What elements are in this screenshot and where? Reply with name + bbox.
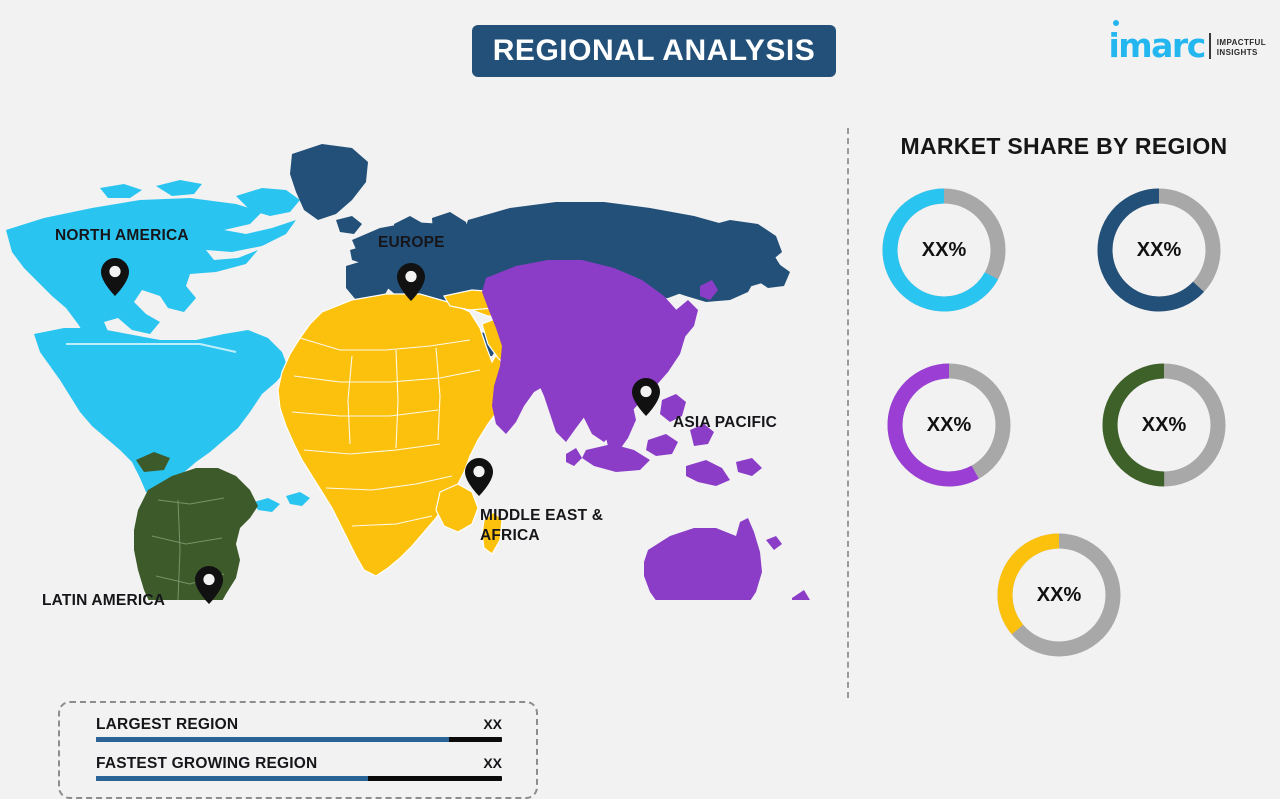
map-label-asia-pacific: ASIA PACIFIC bbox=[673, 413, 777, 433]
logo-tagline: IMPACTFUL INSIGHTS bbox=[1217, 38, 1266, 58]
donut-value-middle-east-africa: XX% bbox=[991, 527, 1127, 663]
logo-wordmark: imarc bbox=[1108, 29, 1204, 62]
logo-wordmark-text: imarc bbox=[1108, 26, 1204, 65]
map-misc-islands bbox=[766, 536, 782, 550]
legend-bar-largest-region bbox=[96, 737, 502, 742]
legend-value-largest-region: XX bbox=[483, 716, 502, 732]
page-title: REGIONAL ANALYSIS bbox=[493, 34, 815, 68]
logo-tagline-line2: INSIGHTS bbox=[1217, 48, 1258, 57]
legend-bar-fill-fastest-growing-region bbox=[96, 776, 368, 781]
legend-value-fastest-growing-region: XX bbox=[483, 755, 502, 771]
map-pin-middle-east-africa-icon[interactable] bbox=[465, 458, 493, 496]
map-pin-europe-icon[interactable] bbox=[397, 263, 425, 301]
map-pin-asia-pacific-icon[interactable] bbox=[632, 378, 660, 416]
legend-box: LARGEST REGION XX FASTEST GROWING REGION… bbox=[58, 701, 538, 799]
map-label-middle-east-africa: MIDDLE EAST & AFRICA bbox=[480, 506, 603, 547]
logo-divider bbox=[1209, 33, 1211, 59]
legend-row-fastest-growing-region: FASTEST GROWING REGION XX bbox=[96, 755, 502, 781]
world-map-panel: NORTH AMERICA EUROPE ASIA PACIFIC MIDDLE… bbox=[0, 100, 840, 720]
donut-value-asia-pacific: XX% bbox=[881, 357, 1017, 493]
market-share-title: MARKET SHARE BY REGION bbox=[848, 133, 1280, 160]
donut-chart-latin-america: XX% bbox=[1096, 357, 1232, 493]
map-label-europe: EUROPE bbox=[378, 233, 445, 253]
donut-chart-asia-pacific: XX% bbox=[881, 357, 1017, 493]
map-label-latin-america: LATIN AMERICA bbox=[42, 591, 165, 611]
map-pin-latin-america-icon[interactable] bbox=[195, 566, 223, 604]
donut-value-north-america: XX% bbox=[876, 182, 1012, 318]
legend-label-fastest-growing-region: FASTEST GROWING REGION bbox=[96, 755, 317, 773]
legend-label-largest-region: LARGEST REGION bbox=[96, 716, 238, 734]
donut-value-europe: XX% bbox=[1091, 182, 1227, 318]
donut-chart-north-america: XX% bbox=[876, 182, 1012, 318]
legend-bar-fill-largest-region bbox=[96, 737, 449, 742]
map-region-greenland bbox=[290, 144, 368, 220]
logo-tagline-line1: IMPACTFUL bbox=[1217, 38, 1266, 47]
donut-chart-europe: XX% bbox=[1091, 182, 1227, 318]
page-title-banner: REGIONAL ANALYSIS bbox=[472, 25, 836, 77]
donut-value-latin-america: XX% bbox=[1096, 357, 1232, 493]
market-share-panel: MARKET SHARE BY REGION XX% XX% XX% XX% bbox=[848, 100, 1280, 720]
map-label-north-america: NORTH AMERICA bbox=[55, 226, 189, 246]
map-pin-north-america-icon[interactable] bbox=[101, 258, 129, 296]
legend-bar-fastest-growing-region bbox=[96, 776, 502, 781]
imarc-logo: imarc IMPACTFUL INSIGHTS bbox=[1108, 22, 1266, 62]
world-map-graphic bbox=[0, 100, 840, 600]
donut-chart-middle-east-africa: XX% bbox=[991, 527, 1127, 663]
